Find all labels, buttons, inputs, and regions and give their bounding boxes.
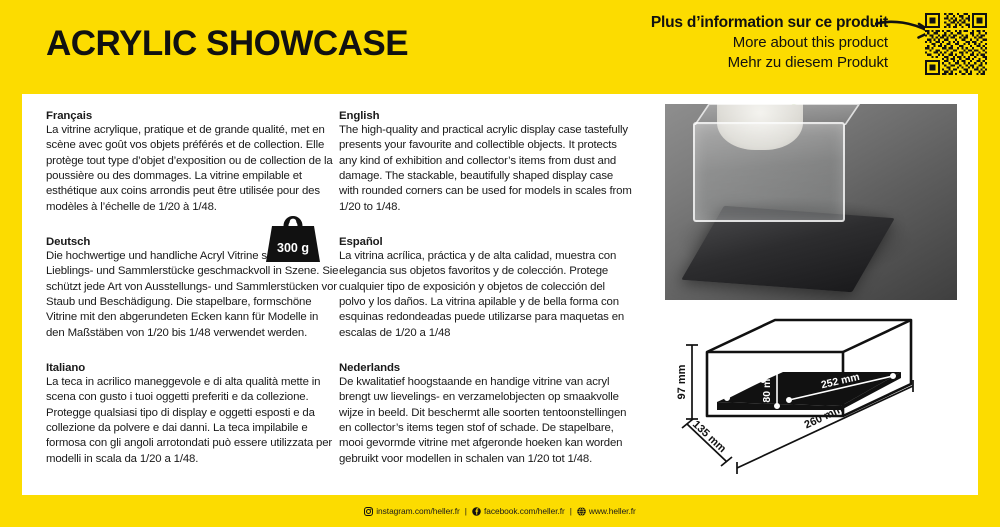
technical-drawing: 97 mm 135 mm 260 mm 127 mm 80 mm xyxy=(665,306,975,488)
language-body: La vitrina acrílica, práctica y de alta … xyxy=(339,249,632,341)
qr-callout-line-de: Mehr zu diesem Produkt xyxy=(651,53,888,73)
page-header: ACRYLIC SHOWCASE Plus d’information sur … xyxy=(0,0,1000,90)
photo-case-cover xyxy=(693,122,845,222)
footer-link-label: facebook.com/heller.fr xyxy=(484,506,565,516)
language-heading: English xyxy=(339,110,632,122)
language-heading: Français xyxy=(46,110,339,122)
language-heading: Italiano xyxy=(46,362,339,374)
dimension-outer-height: 97 mm xyxy=(676,364,688,399)
language-column-right: English The high-quality and practical a… xyxy=(339,110,632,467)
language-column-left: Français La vitrine acrylique, pratique … xyxy=(46,110,339,467)
footer-separator: | xyxy=(465,506,467,516)
acrylic-display-case-photo xyxy=(665,104,957,300)
footer-link-label: www.heller.fr xyxy=(589,506,636,516)
page-title: ACRYLIC SHOWCASE xyxy=(46,24,408,64)
language-block-english: English The high-quality and practical a… xyxy=(339,110,632,215)
language-block-italiano: Italiano La teca in acrilico maneggevole… xyxy=(46,362,339,467)
dimension-outer-depth: 135 mm xyxy=(690,418,728,455)
language-heading: Nederlands xyxy=(339,362,632,374)
weight-value: 300 g xyxy=(277,241,309,255)
qr-callout-line-en: More about this product xyxy=(651,33,888,53)
language-body: La vitrine acrylique, pratique et de gra… xyxy=(46,123,339,215)
language-block-espanol: Español La vitrina acrílica, práctica y … xyxy=(339,236,632,341)
globe-icon xyxy=(577,507,586,516)
footer-link-label: instagram.com/heller.fr xyxy=(376,506,460,516)
qr-code-icon[interactable] xyxy=(925,13,987,75)
footer-links: instagram.com/heller.fr | facebook.com/h… xyxy=(364,506,636,516)
language-block-francais: Français La vitrine acrylique, pratique … xyxy=(46,110,339,215)
qr-callout-line-fr: Plus d’information sur ce produit xyxy=(651,13,888,33)
qr-callout-text: Plus d’information sur ce produit More a… xyxy=(651,13,888,73)
footer-link-website[interactable]: www.heller.fr xyxy=(577,506,636,516)
language-body: The high-quality and practical acrylic d… xyxy=(339,123,632,215)
facebook-icon xyxy=(472,507,481,516)
language-body: La teca in acrilico maneggevole e di alt… xyxy=(46,375,339,467)
footer-link-facebook[interactable]: facebook.com/heller.fr xyxy=(472,506,565,516)
content-panel: Français La vitrine acrylique, pratique … xyxy=(22,94,978,495)
footer-bar: instagram.com/heller.fr | facebook.com/h… xyxy=(0,495,1000,527)
footer-link-instagram[interactable]: instagram.com/heller.fr xyxy=(364,506,460,516)
photo-case-top xyxy=(694,104,861,125)
weight-icon: 300 g xyxy=(262,212,324,266)
language-block-nederlands: Nederlands De kwalitatief hoogstaande en… xyxy=(339,362,632,467)
footer-separator: | xyxy=(570,506,572,516)
language-heading: Español xyxy=(339,236,632,248)
dimension-inner-height: 80 mm xyxy=(761,369,773,402)
language-body: De kwalitatief hoogstaande en handige vi… xyxy=(339,375,632,467)
instagram-icon xyxy=(364,507,373,516)
